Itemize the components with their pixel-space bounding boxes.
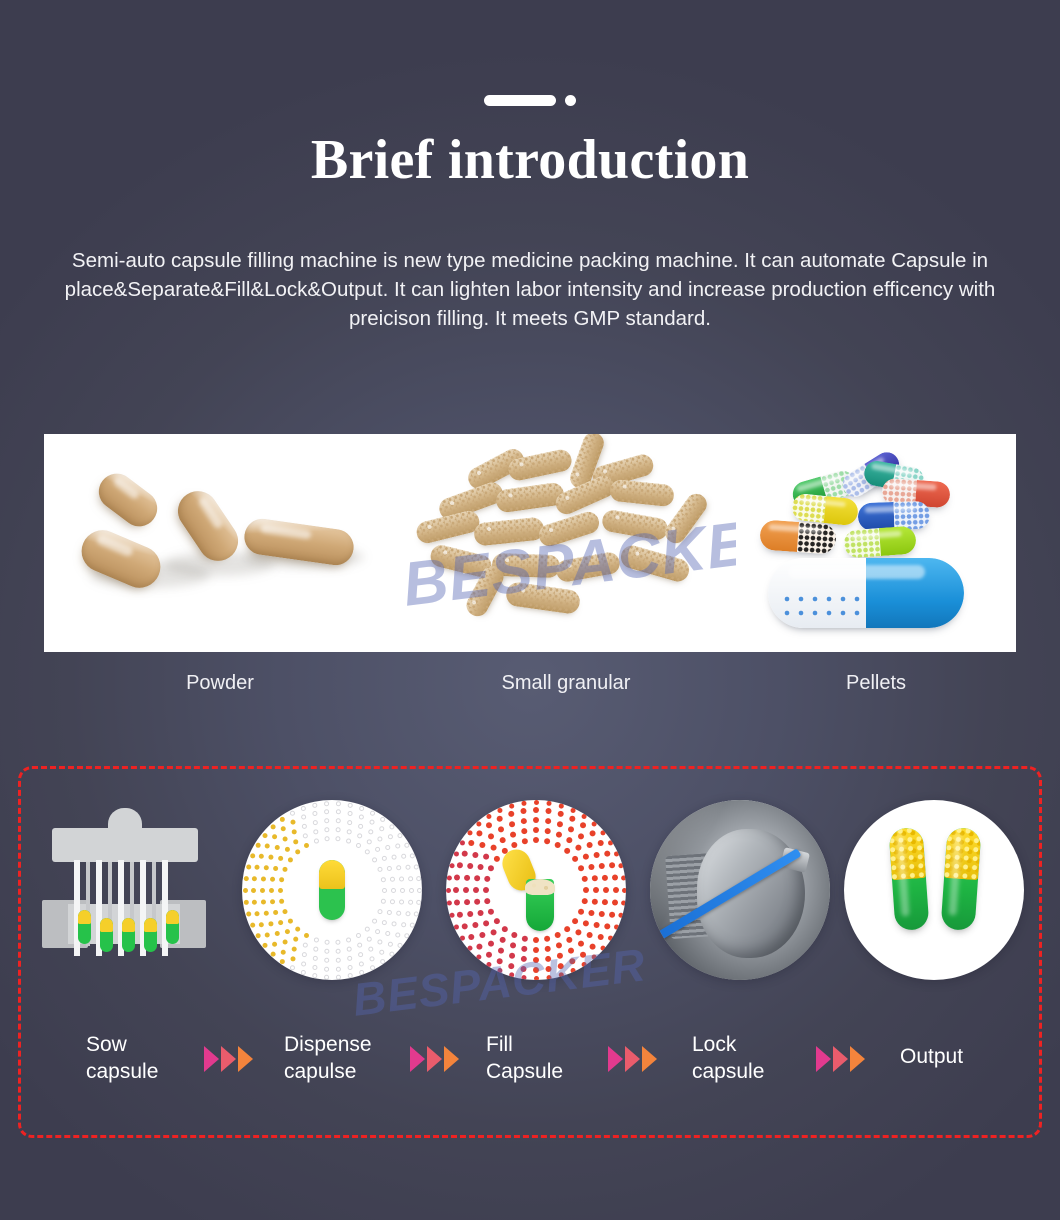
process-flow-icons (18, 800, 1042, 980)
product-captions: Powder Small granular Pellets (44, 672, 1016, 695)
triple-chevron-right-icon (816, 1046, 878, 1072)
intro-paragraph: Semi-auto capsule filling machine is new… (50, 246, 1010, 333)
capsule-granular (609, 479, 675, 508)
capsule-granular (555, 551, 622, 584)
capsule-locking-machine-icon (650, 800, 830, 980)
capsule-mini (100, 918, 113, 952)
product-photo-panel: BESPACKER (44, 434, 1016, 652)
decoration-bar-icon (484, 95, 556, 106)
capsule-mini (144, 918, 157, 952)
capsule-open-filling (501, 849, 571, 931)
capsule-dispensing-disc-icon (242, 800, 422, 980)
product-image-powder (44, 434, 396, 652)
process-flow-labels: Sow capsule Dispense capulse Fill Capsul… (18, 1032, 1042, 1092)
product-image-granular: BESPACKER (396, 434, 736, 652)
finished-capsules-icon (844, 800, 1024, 980)
triple-chevron-right-icon (608, 1046, 670, 1072)
caption-pellets: Pellets (736, 672, 1016, 695)
process-step-label-sow: Sow capsule (86, 1032, 158, 1086)
capsule-finished (940, 827, 981, 931)
process-step-label-dispense: Dispense capulse (284, 1032, 372, 1086)
capsule-granular (536, 509, 602, 549)
capsule-pellet (759, 519, 837, 554)
process-step-label-output: Output (900, 1044, 963, 1071)
capsule-granular (495, 481, 566, 513)
brief-introduction-page: Brief introduction Semi-auto capsule fil… (0, 0, 1060, 1220)
capsule-sowing-machine-icon (34, 800, 214, 980)
capsule-granular (473, 516, 545, 546)
capsule-mini (122, 918, 135, 952)
caption-powder: Powder (44, 672, 396, 695)
header-decoration (0, 95, 1060, 106)
capsule-finished (888, 827, 929, 931)
triple-chevron-right-icon (204, 1046, 266, 1072)
capsule-granular (618, 543, 692, 584)
process-step-label-fill: Fill Capsule (486, 1032, 563, 1086)
capsule-yellow-green (319, 860, 345, 920)
triple-chevron-right-icon (410, 1046, 472, 1072)
capsule-pellet (843, 526, 917, 559)
capsule-pellet-large (768, 558, 964, 628)
capsule-granular (505, 581, 582, 615)
caption-granular: Small granular (396, 672, 736, 695)
decoration-dot-icon (565, 95, 576, 106)
capsule-powder (92, 466, 165, 533)
page-title: Brief introduction (0, 128, 1060, 192)
capsule-mini (166, 910, 179, 944)
capsule-filling-disc-icon (446, 800, 626, 980)
capsule-granular (601, 508, 670, 541)
process-step-label-lock: Lock capsule (692, 1032, 764, 1086)
product-image-pellets (736, 434, 1016, 652)
capsule-mini (78, 910, 91, 944)
